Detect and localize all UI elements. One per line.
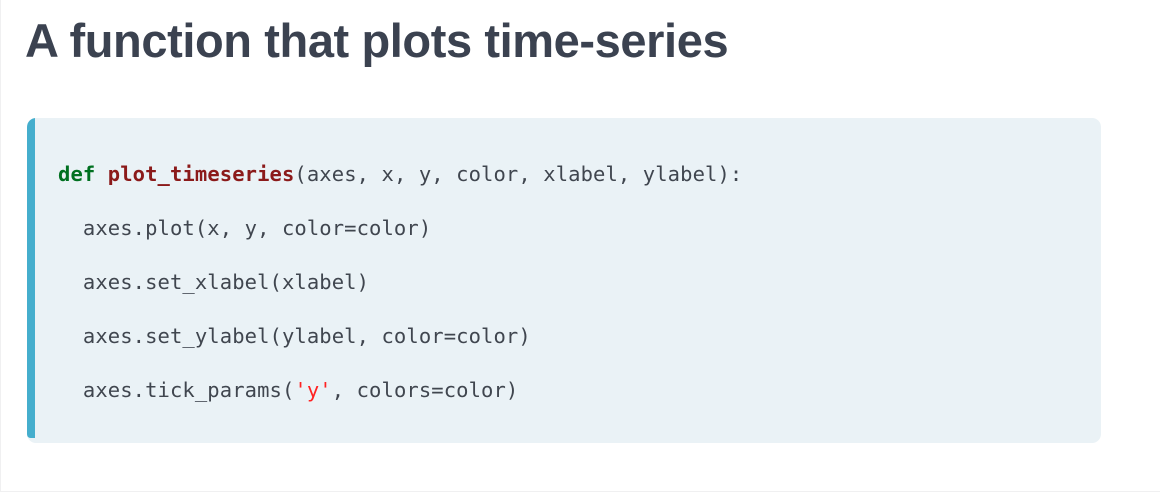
code-content: def plot_timeseries(axes, x, y, color, x… [35,118,1101,443]
code-token-plain: axes.tick_params( [58,378,294,402]
code-line: axes.plot(x, y, color=color) [58,216,431,240]
code-token-keyword: def [58,162,95,186]
code-token-plain [95,162,107,186]
code-line: axes.tick_params('y', colors=color) [58,378,518,402]
code-token-plain: axes.set_ylabel(ylabel, color=color) [58,324,531,348]
code-token-plain: (axes, x, y, color, xlabel, ylabel): [294,162,742,186]
code-line: axes.set_ylabel(ylabel, color=color) [58,324,531,348]
code-line: def plot_timeseries(axes, x, y, color, x… [58,162,742,186]
code-source: def plot_timeseries(axes, x, y, color, x… [58,162,742,402]
code-token-string: 'y' [294,378,331,402]
page-title: A function that plots time-series [25,12,1125,69]
code-token-plain: axes.set_xlabel(xlabel) [58,270,369,294]
code-token-function: plot_timeseries [108,162,295,186]
code-line: axes.set_xlabel(xlabel) [58,270,369,294]
code-block: def plot_timeseries(axes, x, y, color, x… [27,118,1101,443]
slide-canvas: A function that plots time-series def pl… [0,0,1160,492]
code-accent-bar [27,118,35,438]
code-token-plain: axes.plot(x, y, color=color) [58,216,431,240]
code-token-plain: , colors=color) [332,378,519,402]
